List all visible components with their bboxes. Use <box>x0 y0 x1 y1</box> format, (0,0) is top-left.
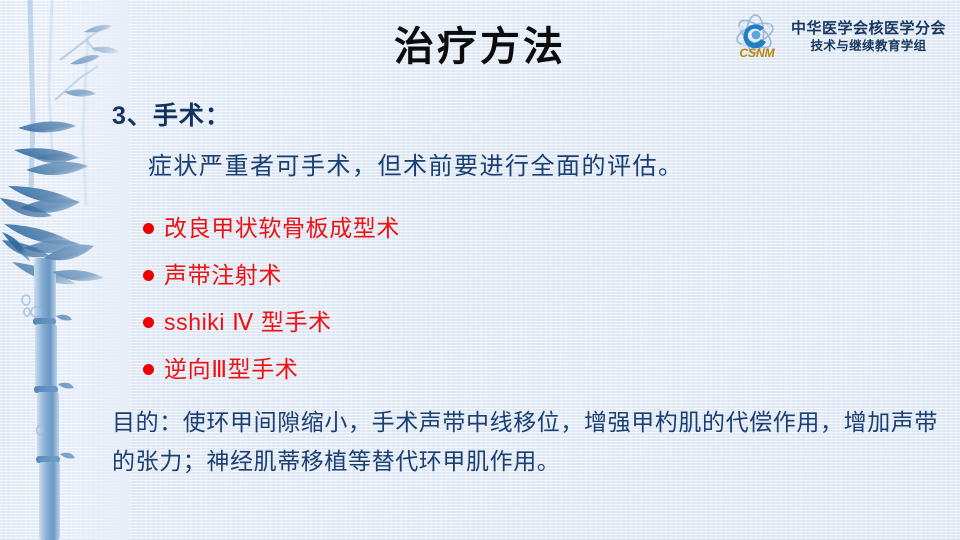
list-item-label: 改良甲状软骨板成型术 <box>164 215 400 243</box>
list-item-label: 声带注射术 <box>164 262 282 290</box>
slide-title: 治疗方法 <box>0 25 960 69</box>
slide-content: 3、手术： 症状严重者可手术，但术前要进行全面的评估。 改良甲状软骨板成型术 声… <box>0 100 960 482</box>
list-item: 逆向Ⅲ型手术 <box>143 346 960 393</box>
intro-paragraph: 症状严重者可手术，但术前要进行全面的评估。 <box>148 151 960 183</box>
list-item: 改良甲状软骨板成型术 <box>143 205 960 252</box>
list-item-label: sshiki Ⅳ 型手术 <box>164 309 332 337</box>
bullet-dot-icon <box>143 364 154 375</box>
list-item: 声带注射术 <box>143 252 960 299</box>
list-item-label: 逆向Ⅲ型手术 <box>164 356 298 384</box>
bullet-dot-icon <box>143 223 154 234</box>
bullet-dot-icon <box>143 317 154 328</box>
slide-canvas: CSNM 中华医学会核医学分会 技术与继续教育学组 治疗方法 3、手术： 症状严… <box>0 0 960 540</box>
surgery-bullet-list: 改良甲状软骨板成型术 声带注射术 sshiki Ⅳ 型手术 逆向Ⅲ型手术 <box>0 205 960 393</box>
list-item: sshiki Ⅳ 型手术 <box>143 299 960 346</box>
section-heading: 3、手术： <box>112 100 960 133</box>
closing-paragraph: 目的：使环甲间隙缩小，手术声带中线移位，增强甲杓肌的代偿作用，增加声带的张力；神… <box>112 403 940 482</box>
bullet-dot-icon <box>143 270 154 281</box>
